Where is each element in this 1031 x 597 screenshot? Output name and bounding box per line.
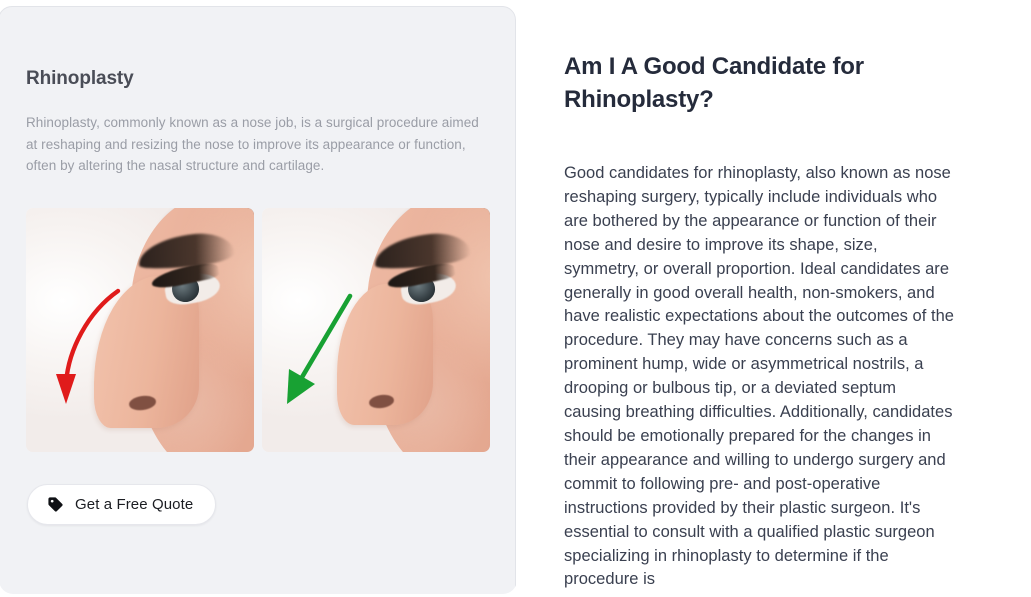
candidate-body-text: Good candidates for rhinoplasty, also kn… (564, 162, 956, 592)
before-after-gallery (26, 208, 490, 452)
page-title: Rhinoplasty (26, 66, 492, 92)
left-panel-clip: Rhinoplasty Rhinoplasty, commonly known … (0, 3, 517, 594)
price-tag-icon (47, 496, 64, 513)
after-image[interactable] (262, 208, 490, 452)
before-image[interactable] (26, 208, 254, 452)
candidate-text-block: Am I A Good Candidate for Rhinoplasty? G… (564, 50, 952, 592)
curved-down-arrow-icon (26, 208, 254, 452)
page-root: Rhinoplasty Rhinoplasty, commonly known … (0, 0, 1031, 597)
procedure-description: Rhinoplasty, commonly known as a nose jo… (26, 112, 481, 177)
get-a-free-quote-button[interactable]: Get a Free Quote (27, 484, 216, 525)
get-a-free-quote-label: Get a Free Quote (75, 496, 193, 513)
straight-diagonal-arrow-icon (262, 208, 490, 452)
candidate-heading: Am I A Good Candidate for Rhinoplasty? (564, 50, 894, 116)
procedure-text-block: Rhinoplasty Rhinoplasty, commonly known … (26, 66, 492, 177)
